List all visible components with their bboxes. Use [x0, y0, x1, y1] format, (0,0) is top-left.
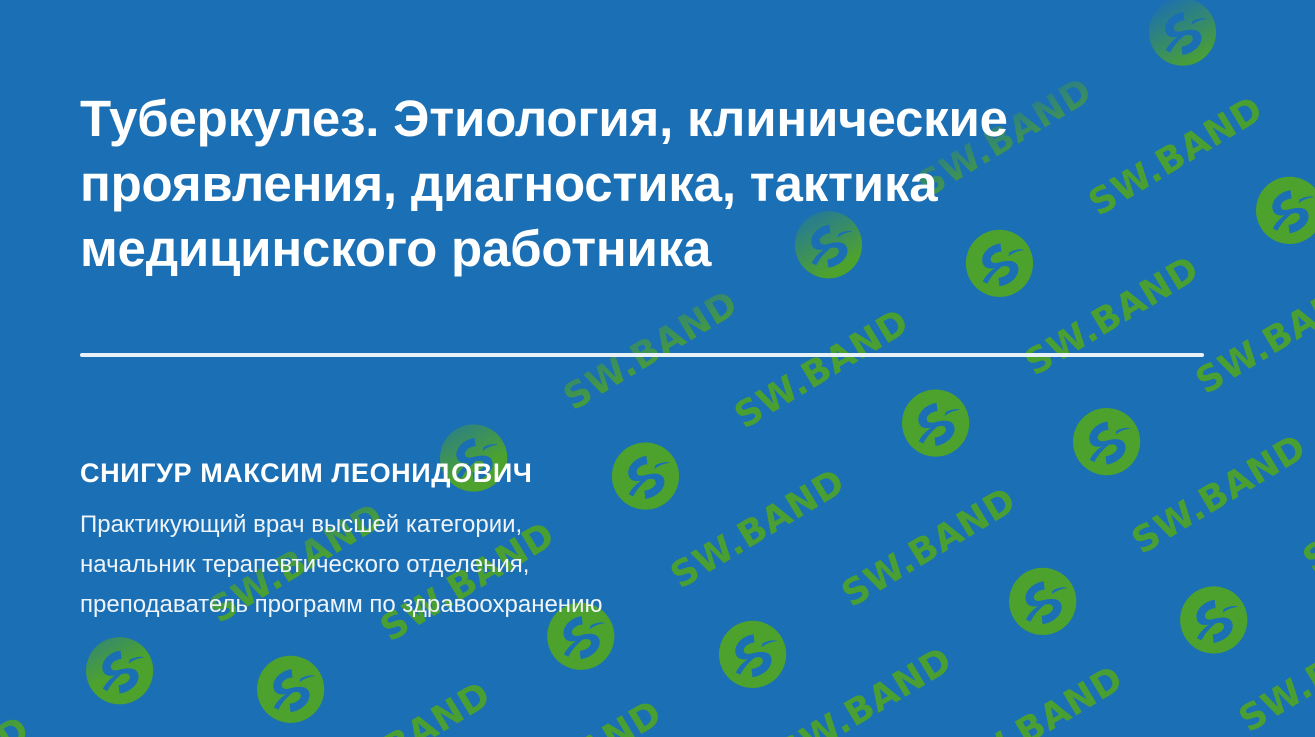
sw-band-logo-icon: [243, 641, 339, 737]
watermark-text: SW.BAND: [268, 339, 454, 470]
presentation-slide: SW.BANDSW.BANDSW.BANDSW.BANDSW.BANDSW.BA…: [0, 0, 1315, 737]
speaker-description: Практикующий врач высшей категории, нача…: [80, 505, 1315, 625]
watermark-text: SW.BAND: [97, 320, 283, 451]
title-line-3: медицинского работника: [80, 216, 1235, 281]
divider: [80, 353, 1204, 357]
watermark-text: SW.BAND: [1191, 270, 1315, 401]
divider-line: [80, 353, 1204, 357]
watermark-text: SW.BAND: [0, 711, 36, 737]
watermark-text: SW.BAND: [1234, 608, 1315, 737]
watermark-text: SW.BAND: [772, 642, 958, 737]
watermark-text: SW.BAND: [482, 695, 668, 737]
watermark-text: SW.BAND: [311, 677, 497, 737]
sw-band-logo-icon: [0, 444, 61, 540]
watermark-text: SW.BAND: [944, 661, 1130, 737]
speaker-description-line-2: начальник терапевтического отделения,: [80, 545, 1315, 585]
speaker-block: СНИГУР МАКСИМ ЛЕОНИДОВИЧ Практикующий вр…: [80, 457, 1315, 625]
title-line-1: Туберкулез. Этиология, клинические: [80, 86, 1235, 151]
sw-band-logo-icon: [29, 284, 125, 380]
watermark-text: SW.BAND: [21, 730, 207, 737]
title-line-2: проявления, диагностика, тактика: [80, 151, 1235, 216]
sw-band-logo-icon: [1102, 732, 1198, 737]
page-title: Туберкулез. Этиология, клинические прояв…: [80, 0, 1235, 281]
slide-content: Туберкулез. Этиология, клинические прояв…: [0, 0, 1315, 281]
sw-band-logo-icon: [72, 623, 168, 719]
watermark-text: SW.BAND: [558, 286, 744, 417]
speaker-name: СНИГУР МАКСИМ ЛЕОНИДОВИЧ: [80, 457, 1315, 489]
speaker-description-line-3: преподаватель программ по здравоохранени…: [80, 585, 1315, 625]
speaker-description-line-1: Практикующий врач высшей категории,: [80, 505, 1315, 545]
watermark-text: SW.BAND: [729, 304, 915, 435]
